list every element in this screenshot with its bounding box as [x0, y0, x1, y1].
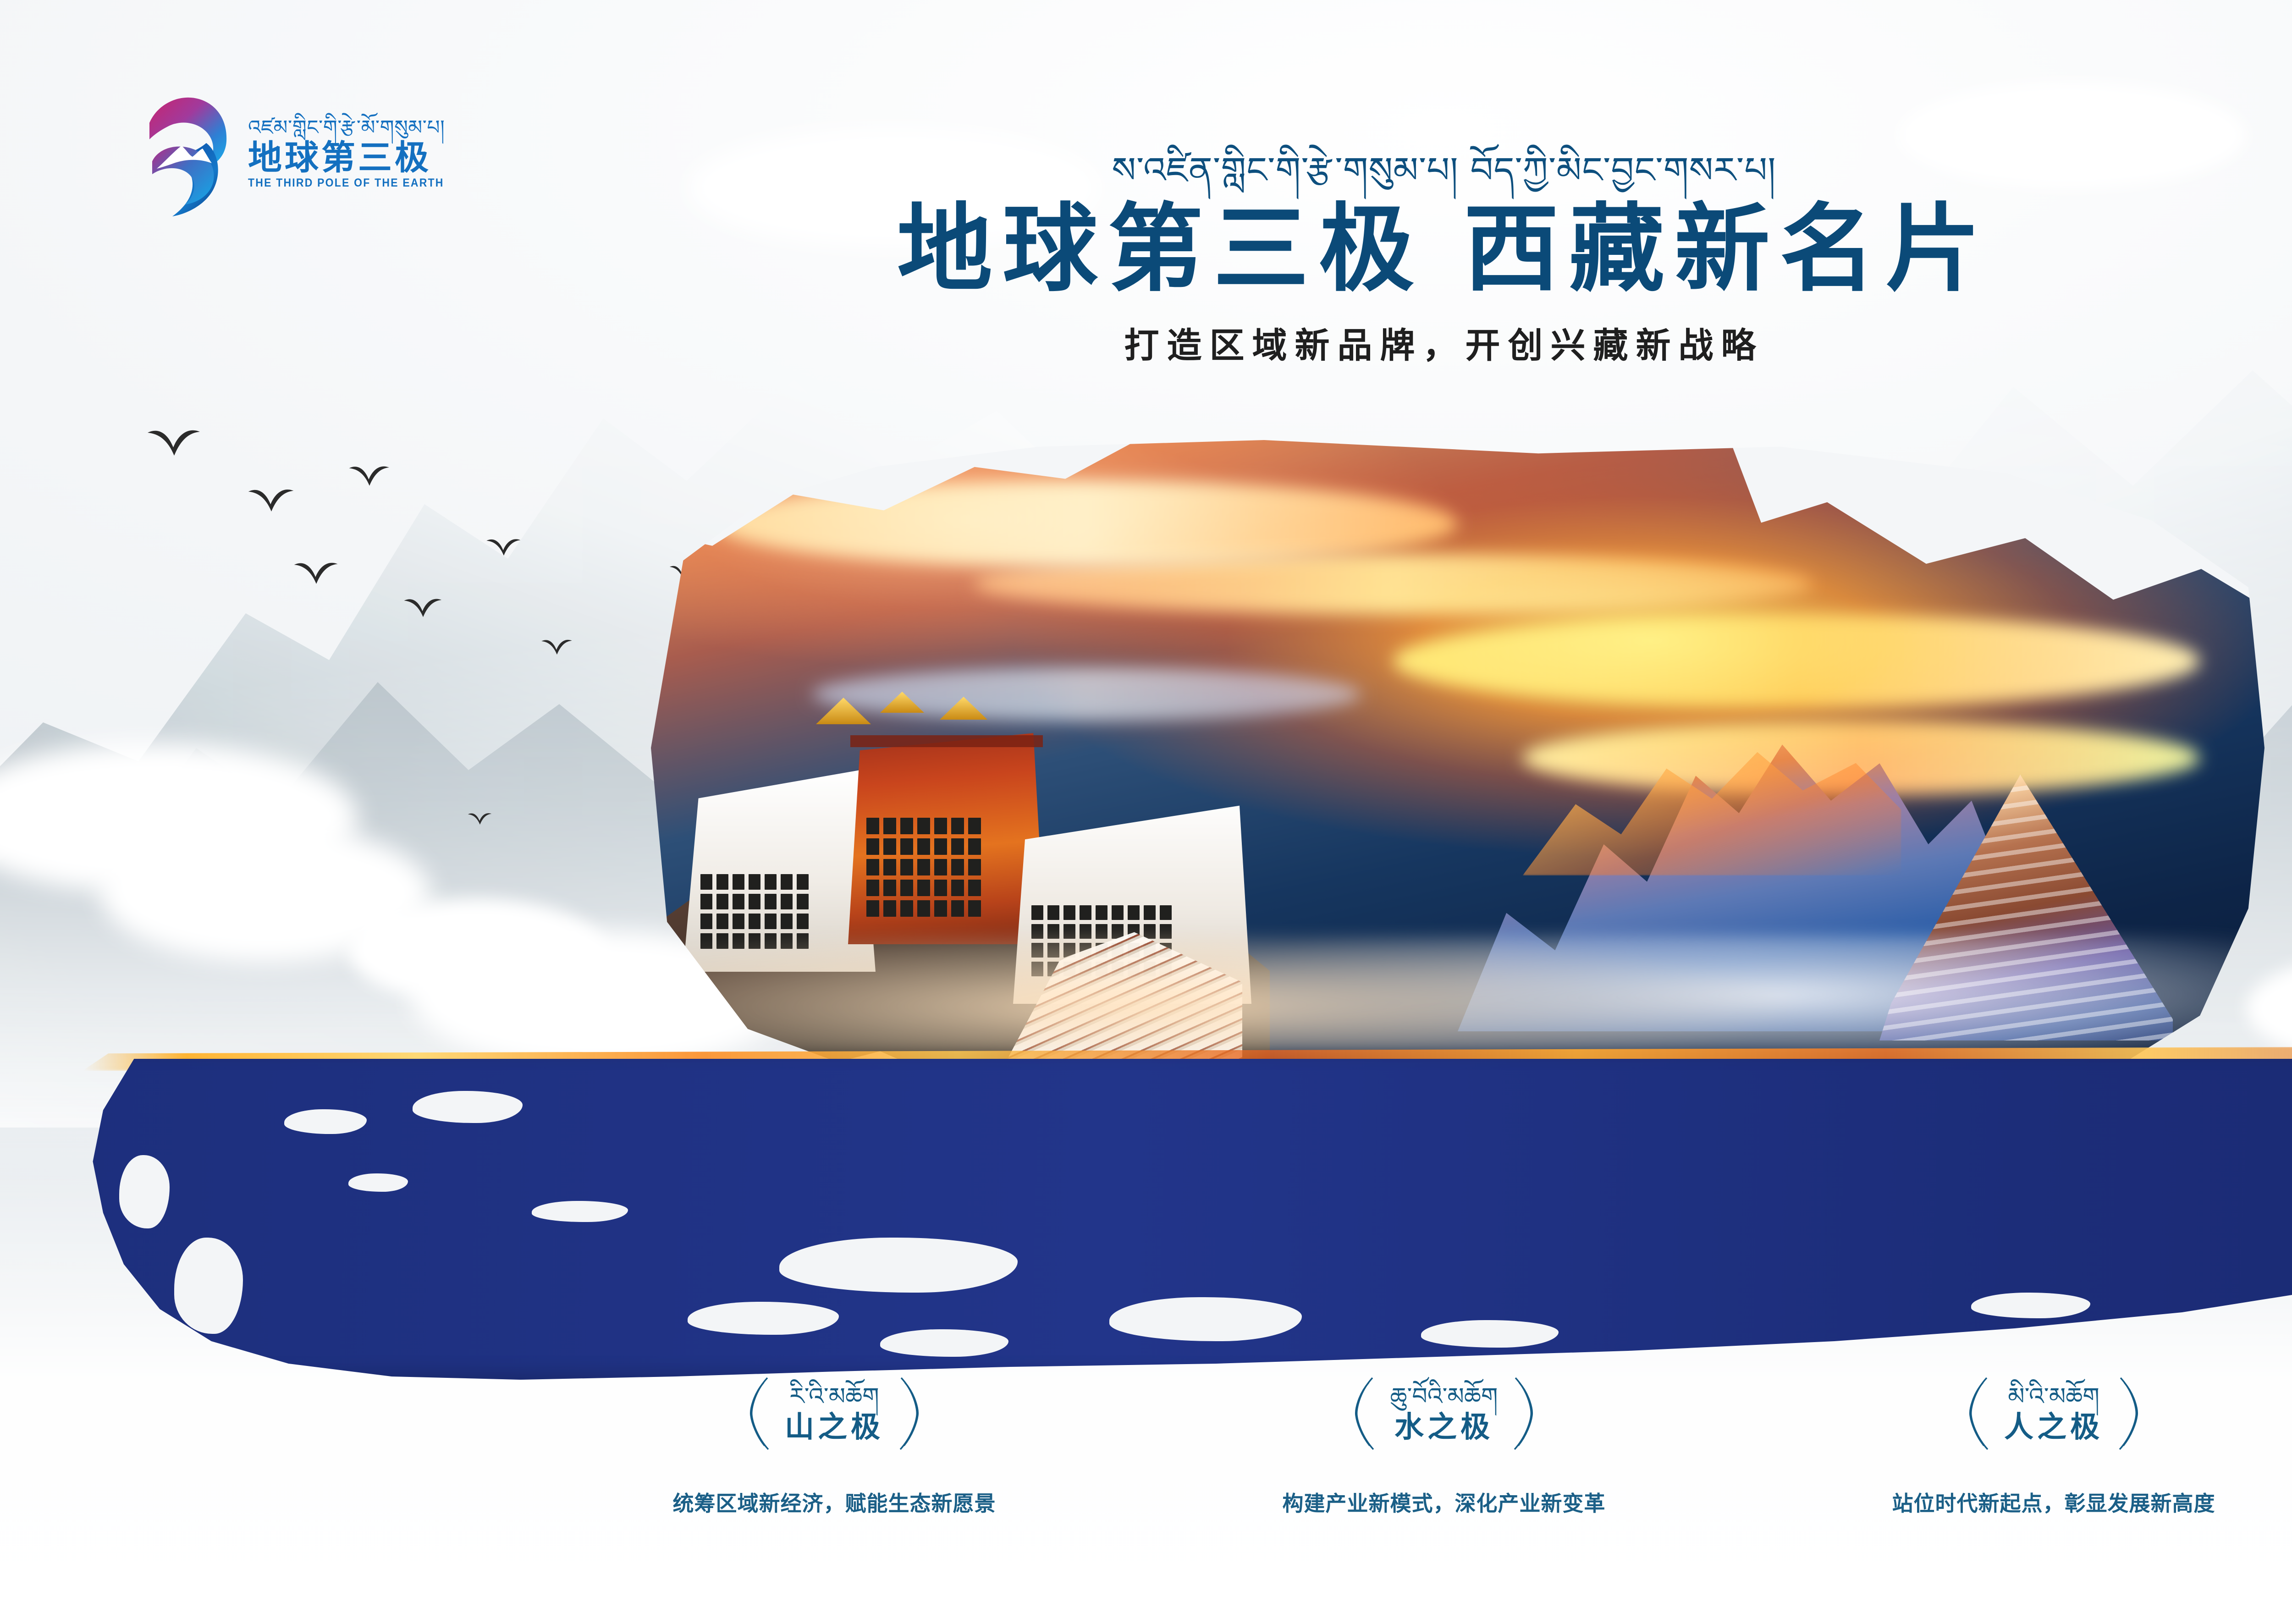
- pillar-item-mountain[interactable]: རི་འི་མཆོག 山之极 统筹区域新经济，赋能生态新愿景: [605, 1375, 1063, 1517]
- cloud-blob: [0, 743, 358, 894]
- cloud-blob: [348, 898, 605, 1004]
- pillar-item-people[interactable]: མི་འི་མཆོག 人之极 站位时代新起点，彰显发展新高度: [1824, 1375, 2283, 1517]
- everest-alpenglow: [1523, 738, 1901, 875]
- pillar-words: མི་འི་མཆོག 人之极: [2004, 1384, 2103, 1443]
- pillar-title: 水之极: [1394, 1411, 1493, 1443]
- brand-english: THE THIRD POLE OF THE EARTH: [248, 176, 444, 190]
- palace-golden-roof: [816, 698, 871, 724]
- pillar-tibetan: མི་འི་མཆོག: [2008, 1384, 2099, 1409]
- bird-icon: [348, 463, 391, 487]
- mount-kailash-illustration: [1879, 775, 2173, 1040]
- pillar-head: ཆུ་བོའི་མཆོག 水之极: [1215, 1375, 1673, 1452]
- bracket-right-icon: [896, 1375, 923, 1452]
- palace-window-grid: [700, 874, 809, 949]
- brand-logo-text: འཛམ་གླིང་གི་རྩེ་མོ་གསུམ་པ། 地球第三极 THE THI…: [248, 117, 461, 189]
- poster-canvas: འཛམ་གླིང་གི་རྩེ་མོ་གསུམ་པ། 地球第三极 THE THI…: [0, 0, 2292, 1624]
- bracket-right-icon: [1510, 1375, 1537, 1452]
- pillars-row: རི་འི་མཆོག 山之极 统筹区域新经济，赋能生态新愿景: [0, 1375, 2292, 1517]
- pillar-title: 山之极: [785, 1411, 884, 1443]
- bird-icon: [403, 596, 443, 618]
- pillar-tibetan: རི་འི་མཆོག: [789, 1384, 879, 1409]
- brand-tibetan: འཛམ་གླིང་གི་རྩེ་མོ་གསུམ་པ།: [248, 117, 461, 138]
- page-title-part2: 西藏新名片: [1464, 196, 1991, 303]
- palace-golden-roof: [880, 692, 924, 713]
- bracket-right-icon: [2115, 1375, 2143, 1452]
- pillar-title: 人之极: [2004, 1411, 2103, 1443]
- pillar-head: མི་འི་མཆོག 人之极: [1824, 1375, 2283, 1452]
- brand-chinese: 地球第三极: [248, 141, 461, 175]
- hero-subtitle: 打造区域新品牌，开创兴藏新战略: [0, 317, 2292, 368]
- bird-icon: [541, 637, 573, 655]
- pillar-description: 构建产业新模式，深化产业新变革: [1215, 1487, 1673, 1517]
- pillar-item-water[interactable]: ཆུ་བོའི་མཆོག 水之极 构建产业新模式，深化产业新变革: [1215, 1375, 1673, 1517]
- palace-cornice-band: [850, 735, 1043, 747]
- ribbon-mountain-logo-icon: [138, 87, 236, 220]
- palace-golden-roof: [940, 697, 987, 720]
- bracket-left-icon: [1350, 1375, 1378, 1452]
- pillar-description: 统筹区域新经济，赋能生态新愿景: [605, 1487, 1063, 1517]
- bird-icon: [468, 811, 492, 825]
- cloud-blob: [688, 128, 1100, 248]
- hero-photo-collage: [651, 440, 2264, 1109]
- bird-icon: [147, 426, 202, 457]
- bird-icon: [486, 536, 522, 556]
- cloud-blob: [2246, 953, 2292, 1063]
- pillar-head: རི་འི་མཆོག 山之极: [605, 1375, 1063, 1452]
- bracket-left-icon: [1965, 1375, 1992, 1452]
- pillar-words: རི་འི་མཆོག 山之极: [785, 1384, 884, 1443]
- pillar-words: ཆུ་བོའི་མཆོག 水之极: [1390, 1384, 1498, 1443]
- kailash-strata: [1879, 775, 2173, 1040]
- potala-palace-illustration: [665, 578, 1270, 1109]
- pillar-description: 站位时代新起点，彰显发展新高度: [1824, 1487, 2283, 1517]
- pillar-tibetan: ཆུ་བོའི་མཆོག: [1390, 1384, 1498, 1409]
- palace-window-grid: [866, 818, 981, 917]
- bracket-left-icon: [745, 1375, 773, 1452]
- navy-brush-stroke: [83, 1059, 2292, 1380]
- bird-icon: [248, 486, 295, 512]
- page-title-part1: 地球第三极: [897, 196, 1424, 303]
- cloud-blob: [1898, 83, 2246, 188]
- bird-icon: [293, 559, 339, 585]
- brand-logo[interactable]: འཛམ་གླིང་གི་རྩེ་མོ་གསུམ་པ། 地球第三极 THE THI…: [138, 87, 461, 220]
- cloud-blob: [101, 825, 431, 963]
